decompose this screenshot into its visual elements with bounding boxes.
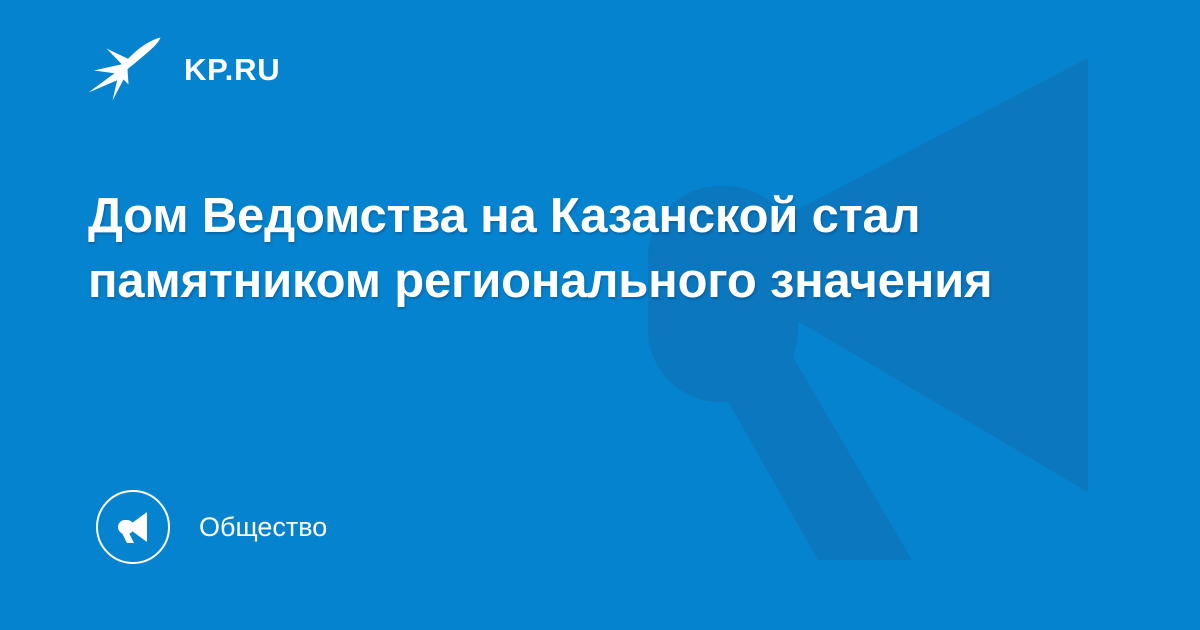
- category-badge[interactable]: Общество: [96, 486, 327, 568]
- megaphone-icon: [113, 507, 153, 547]
- swallow-bird-icon: [88, 36, 162, 102]
- brand-name: KP.RU: [184, 54, 280, 85]
- article-headline: Дом Ведомства на Казанской стал памятник…: [88, 184, 1098, 314]
- category-label: Общество: [199, 514, 327, 541]
- site-logo[interactable]: KP.RU: [88, 34, 280, 104]
- social-share-card: KP.RU Дом Ведомства на Казанской стал па…: [0, 0, 1200, 630]
- category-icon-circle: [96, 490, 170, 564]
